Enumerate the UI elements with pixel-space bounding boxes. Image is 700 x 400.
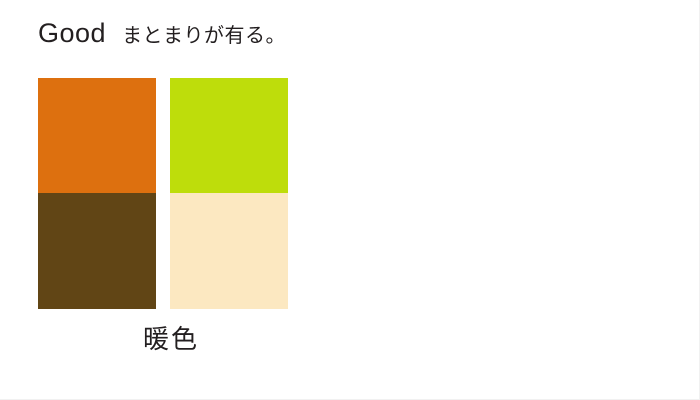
swatch-grid-good [38,78,288,309]
panel-good: Good まとまりが有る。 暖色 [0,0,350,400]
panel-bad: Bad ちぐはぐ。 寒色 [350,0,700,400]
swatch-orange [38,78,156,193]
verdict-label-good: Good [38,20,106,47]
swatch-cream [170,193,288,309]
swatch-pair-orange-brown [38,78,156,309]
swatch-brown [38,193,156,309]
swatch-pair-green-cream [170,78,288,309]
verdict-note-good: まとまりが有る。 [122,26,286,46]
color-harmony-illustration: Good まとまりが有る。 暖色 Bad ちぐはぐ。 [0,0,700,400]
swatch-yellow-green [170,78,288,193]
heading-good: Good まとまりが有る。 [38,20,286,47]
group-label-warm: 暖色 [38,325,304,354]
